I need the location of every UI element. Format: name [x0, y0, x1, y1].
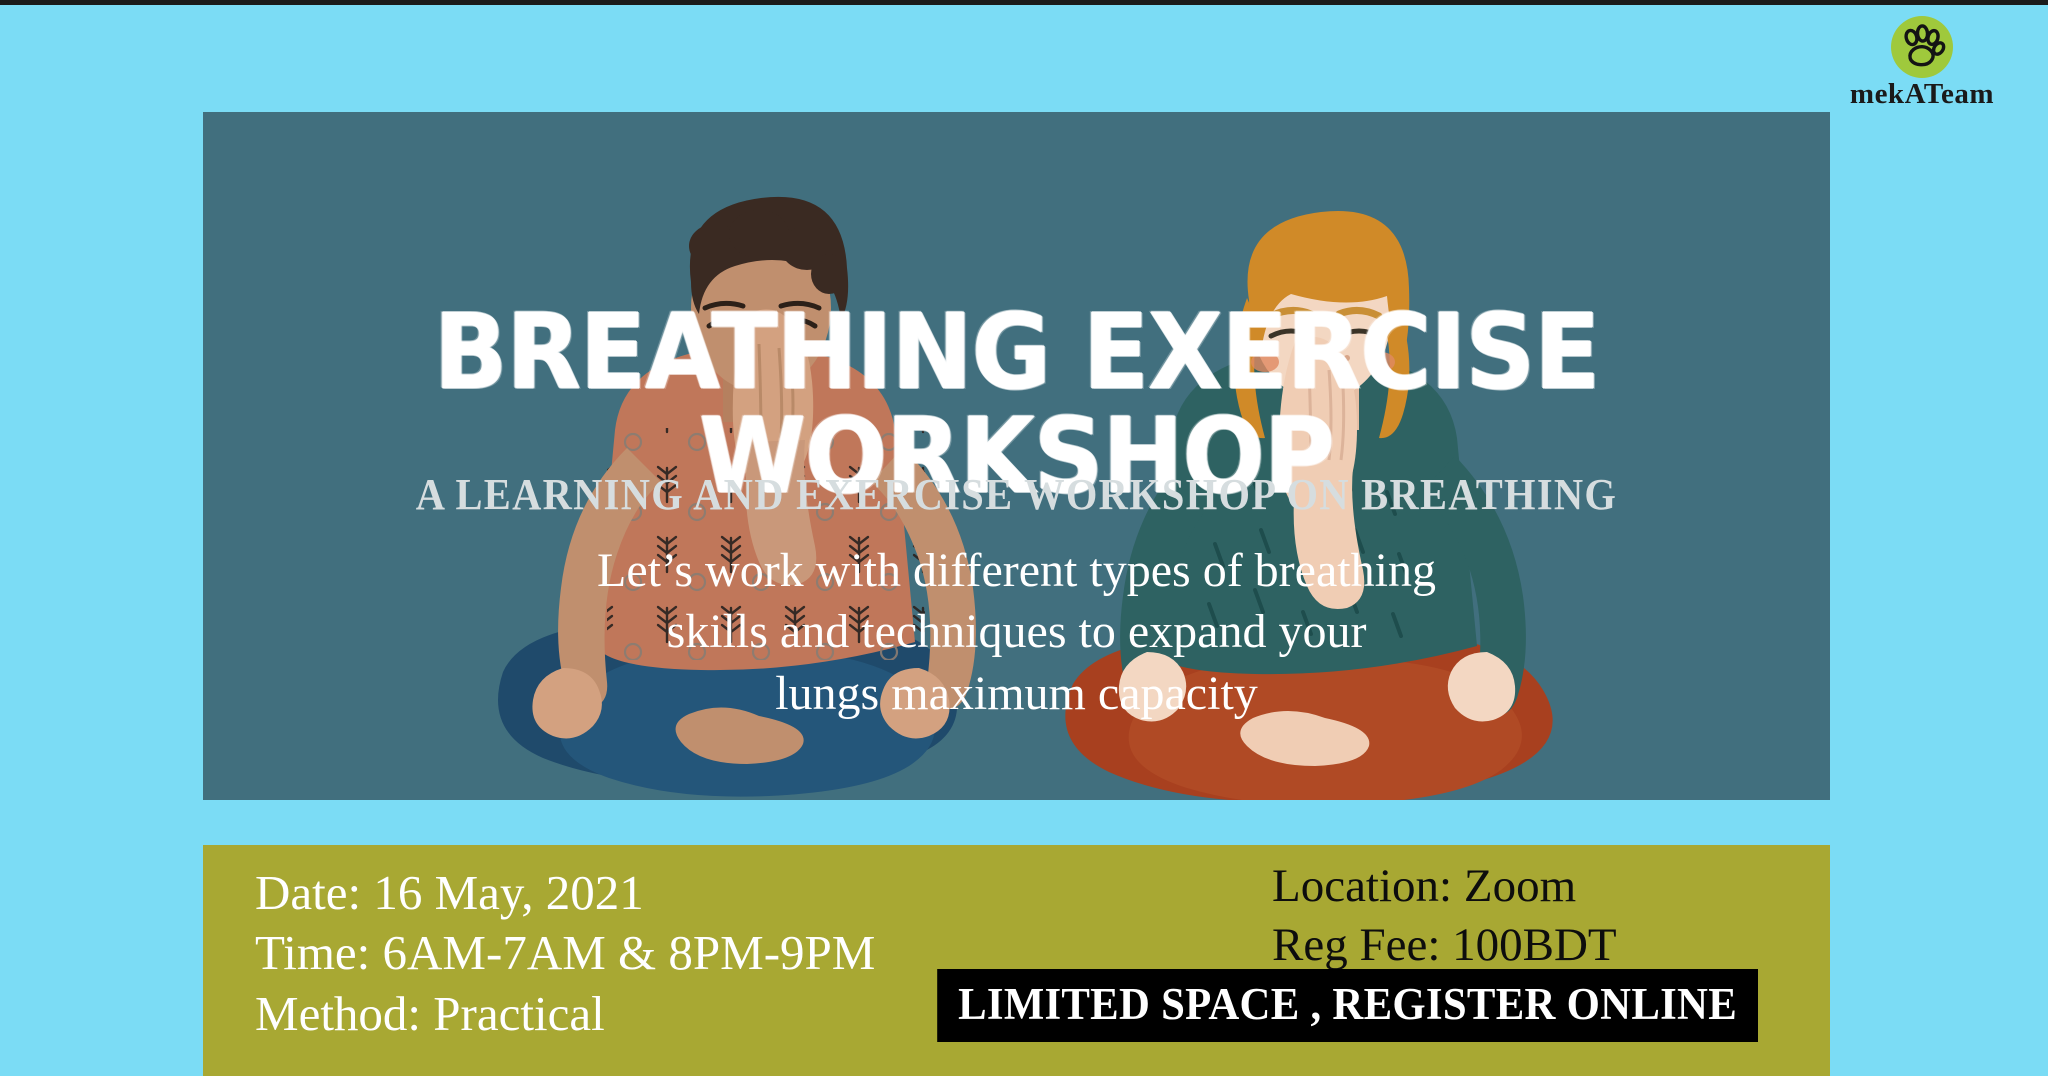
- event-method: Method: Practical: [255, 984, 875, 1044]
- event-details-right: Location: Zoom Reg Fee: 100BDT: [1272, 857, 1742, 975]
- poster-canvas: mekATeam: [0, 0, 2048, 1076]
- event-date: Date: 16 May, 2021: [255, 863, 875, 923]
- brand-logo[interactable]: mekATeam: [1822, 16, 2022, 109]
- event-details-left: Date: 16 May, 2021 Time: 6AM-7AM & 8PM-9…: [255, 863, 875, 1044]
- event-time: Time: 6AM-7AM & 8PM-9PM: [255, 923, 875, 983]
- event-location: Location: Zoom: [1272, 857, 1742, 916]
- yoga-illustration: [203, 112, 1830, 800]
- top-rule-divider: [0, 0, 2048, 5]
- paw-print-icon: [1891, 16, 1953, 78]
- event-reg-fee: Reg Fee: 100BDT: [1272, 916, 1742, 975]
- brand-name: mekATeam: [1822, 80, 2022, 109]
- event-details-bar: Date: 16 May, 2021 Time: 6AM-7AM & 8PM-9…: [203, 845, 1830, 1076]
- hero-panel: BREATHING EXERCISE WORKSHOP A LEARNING A…: [203, 112, 1830, 800]
- register-cta-banner[interactable]: LIMITED SPACE , REGISTER ONLINE: [937, 969, 1758, 1042]
